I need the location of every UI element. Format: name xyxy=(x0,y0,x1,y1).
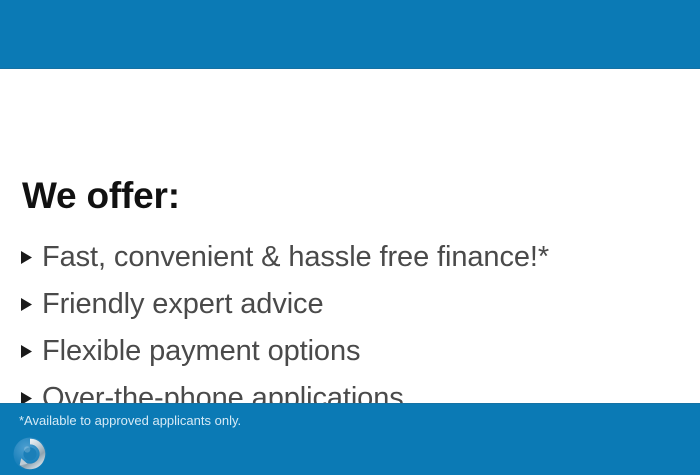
list-item: Flexible payment options xyxy=(20,328,660,375)
slide-content-area: We offer: Fast, convenient & hassle free… xyxy=(0,69,700,403)
list-item-label: Fast, convenient & hassle free finance!* xyxy=(42,243,549,272)
top-brand-band xyxy=(0,0,700,69)
triangle-right-icon xyxy=(20,250,42,265)
triangle-right-icon xyxy=(20,297,42,312)
list-item: Fast, convenient & hassle free finance!* xyxy=(20,234,660,281)
bottom-band-edge-divider xyxy=(0,403,700,404)
list-item-label: Friendly expert advice xyxy=(42,290,324,319)
slide-canvas: We offer: Fast, convenient & hassle free… xyxy=(0,0,700,475)
triangle-right-icon xyxy=(20,344,42,359)
page-title: We offer: xyxy=(22,177,180,214)
list-item: Friendly expert advice xyxy=(20,281,660,328)
footnote-disclaimer: *Available to approved applicants only. xyxy=(19,414,241,427)
circular-ring-logo-icon xyxy=(13,437,47,471)
list-item-label: Flexible payment options xyxy=(42,337,360,366)
offer-bullet-list: Fast, convenient & hassle free finance!*… xyxy=(20,234,660,422)
